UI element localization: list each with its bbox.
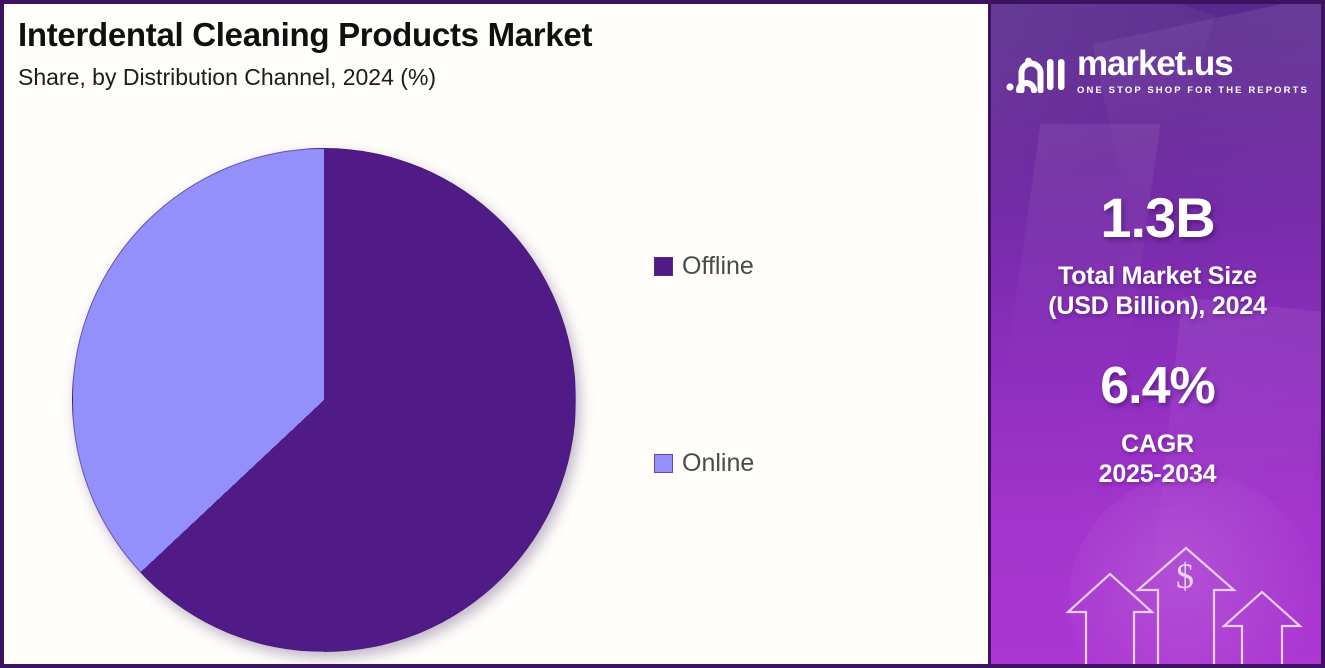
- stat-caption-line-1: CAGR: [991, 430, 1321, 460]
- stat-value-market-size: 1.3B: [991, 190, 1321, 246]
- legend-label-offline: Offline: [682, 254, 754, 279]
- pie-chart: [68, 146, 588, 666]
- market-logo-icon: [1006, 49, 1068, 93]
- legend-label-online: Online: [682, 451, 754, 476]
- stat-market-size: 1.3B Total Market Size (USD Billion), 20…: [991, 190, 1321, 321]
- stat-value-cagr: 6.4%: [991, 360, 1321, 412]
- stats-sidebar: market.us ONE STOP SHOP FOR THE REPORTS …: [988, 4, 1321, 664]
- stat-caption-line-2: 2025-2034: [991, 460, 1321, 490]
- chart-legend: Offline Online: [654, 252, 954, 477]
- logo-tagline: ONE STOP SHOP FOR THE REPORTS: [1077, 86, 1309, 96]
- logo-wordmark: market.us: [1077, 46, 1232, 81]
- legend-swatch-icon-online: [654, 454, 673, 473]
- stat-caption-cagr: CAGR 2025-2034: [991, 430, 1321, 489]
- infographic-card: Interdental Cleaning Products Market Sha…: [0, 0, 1325, 668]
- legend-item-online[interactable]: Online: [654, 449, 954, 477]
- chart-header: Interdental Cleaning Products Market Sha…: [18, 16, 918, 92]
- growth-arrows-graphic: $: [1046, 534, 1321, 664]
- stat-caption-line-1: Total Market Size: [991, 262, 1321, 292]
- stat-caption-market-size: Total Market Size (USD Billion), 2024: [991, 262, 1321, 321]
- pie-disc: [72, 148, 576, 652]
- logo-text: market.us ONE STOP SHOP FOR THE REPORTS: [1077, 46, 1309, 96]
- dollar-symbol: $: [1046, 558, 1321, 594]
- stat-caption-line-2: (USD Billion), 2024: [991, 292, 1321, 322]
- legend-item-offline[interactable]: Offline: [654, 252, 954, 280]
- brand-logo[interactable]: market.us ONE STOP SHOP FOR THE REPORTS: [991, 46, 1321, 96]
- legend-swatch-icon-offline: [654, 257, 673, 276]
- chart-panel: Interdental Cleaning Products Market Sha…: [4, 4, 988, 664]
- stat-cagr: 6.4% CAGR 2025-2034: [991, 360, 1321, 489]
- upward-arrows-icon: [1046, 534, 1321, 664]
- chart-subtitle: Share, by Distribution Channel, 2024 (%): [18, 64, 918, 92]
- page-title: Interdental Cleaning Products Market: [18, 16, 918, 54]
